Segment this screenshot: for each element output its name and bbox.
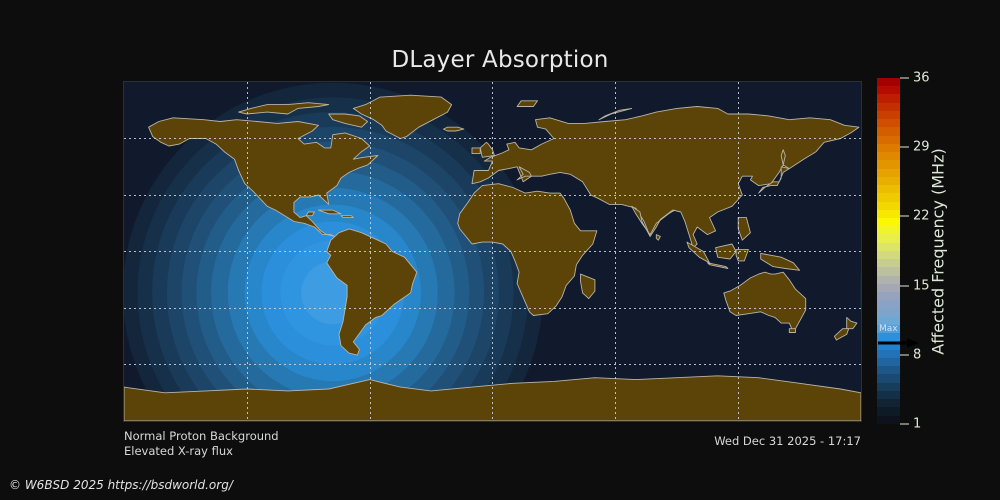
landmass-ireland (472, 148, 480, 154)
colorbar-band-11 (877, 169, 900, 177)
colorbar-band-5 (877, 119, 900, 127)
colorbar-band-26 (877, 292, 900, 300)
colorbar-band-18 (877, 226, 900, 234)
landmass-svalbard (517, 101, 537, 107)
colorbar-band-7 (877, 136, 900, 144)
timestamp: Wed Dec 31 2025 - 17:17 (0, 434, 861, 448)
colorbar-band-28 (877, 309, 900, 317)
colorbar-band-20 (877, 243, 900, 251)
tick-mark (900, 285, 909, 286)
colorbar-axis-label-text: Affected Frequency (MHz) (929, 148, 948, 354)
colorbar-band-14 (877, 193, 900, 201)
copyright-footer: © W6BSD 2025 https://bsdworld.org/ (9, 478, 233, 492)
world-map[interactable] (124, 82, 861, 421)
colorbar-band-9 (877, 152, 900, 160)
colorbar-band-0 (877, 78, 900, 86)
colorbar-band-41 (877, 416, 900, 424)
colorbar-band-27 (877, 300, 900, 308)
colorbar-band-6 (877, 127, 900, 135)
colorbar-band-23 (877, 267, 900, 275)
colorbar-band-24 (877, 276, 900, 284)
colorbar-band-10 (877, 160, 900, 168)
tick-mark (900, 216, 909, 217)
colorbar-axis-label: Affected Frequency (MHz) (918, 78, 958, 424)
colorbar-band-25 (877, 284, 900, 292)
colorbar-band-15 (877, 202, 900, 210)
colorbar-band-22 (877, 259, 900, 267)
colorbar-band-34 (877, 358, 900, 366)
colorbar-band-21 (877, 251, 900, 259)
colorbar-band-19 (877, 234, 900, 242)
colorbar-band-2 (877, 94, 900, 102)
chart-canvas: DLayer Absorption 3629221581 Max (0, 0, 1000, 500)
colorbar-band-37 (877, 383, 900, 391)
colorbar-band-17 (877, 218, 900, 226)
colorbar-band-39 (877, 399, 900, 407)
colorbar[interactable] (877, 78, 900, 424)
tick-mark (900, 147, 909, 148)
tick-mark (900, 354, 909, 355)
colorbar-band-38 (877, 391, 900, 399)
colorbar-band-35 (877, 366, 900, 374)
colorbar-band-12 (877, 177, 900, 185)
map-graphic (124, 82, 861, 421)
colorbar-band-36 (877, 374, 900, 382)
colorbar-band-3 (877, 103, 900, 111)
colorbar-band-8 (877, 144, 900, 152)
landmass-tasmania (789, 329, 795, 333)
tick-mark (900, 78, 909, 79)
page-title: DLayer Absorption (0, 47, 1000, 73)
tick-mark (900, 424, 909, 425)
landmass-hispaniola (341, 216, 353, 218)
colorbar-band-1 (877, 86, 900, 94)
colorbar-band-16 (877, 210, 900, 218)
colorbar-band-4 (877, 111, 900, 119)
colorbar-band-40 (877, 407, 900, 415)
colorbar-band-13 (877, 185, 900, 193)
arrow-right-icon (877, 337, 921, 349)
max-marker-label: Max (879, 325, 898, 334)
